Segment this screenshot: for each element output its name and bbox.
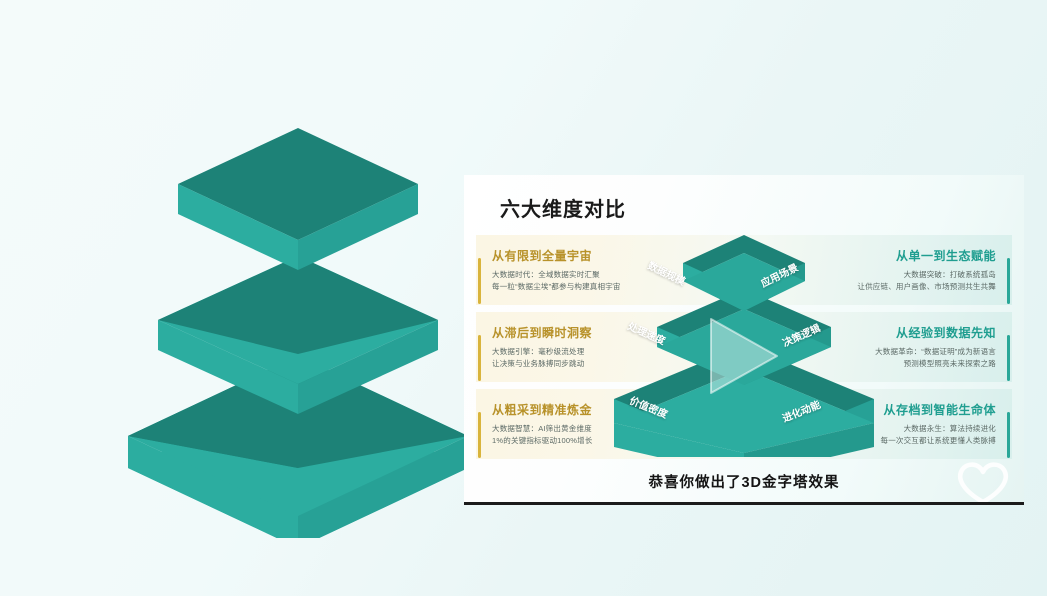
dimension-desc-line: 大数据时代：全域数据实时汇聚 bbox=[492, 269, 681, 281]
card-footer-text: 恭喜你做出了3D金字塔效果 bbox=[464, 471, 1024, 492]
dimension-desc-line: 让供应链、用户画像、市场预测共生共舞 bbox=[807, 281, 996, 293]
table-row: 从有限到全量宇宙 大数据时代：全域数据实时汇聚 每一粒“数据尘埃”都参与构建真相… bbox=[476, 235, 1012, 305]
dimension-left-1: 从有限到全量宇宙 大数据时代：全域数据实时汇聚 每一粒“数据尘埃”都参与构建真相… bbox=[476, 247, 681, 292]
dimension-desc-line: 每一次交互都让系统更懂人类脉搏 bbox=[807, 435, 996, 447]
dimension-title: 从有限到全量宇宙 bbox=[492, 247, 681, 264]
table-row: 从粗采到精准炼金 大数据智慧：AI筛出黄金维度 1%的关键指标驱动100%增长 … bbox=[476, 389, 1012, 459]
dimension-desc-line: 大数据引擎：毫秒级流处理 bbox=[492, 346, 681, 358]
dimension-title: 从滞后到瞬时洞察 bbox=[492, 324, 681, 341]
dimension-title: 从单一到生态赋能 bbox=[807, 247, 996, 264]
accent-bar-teal bbox=[1007, 258, 1010, 304]
dimension-left-2: 从滞后到瞬时洞察 大数据引擎：毫秒级流处理 让决策与业务脉搏同步跳动 bbox=[476, 324, 681, 369]
accent-bar-gold bbox=[478, 258, 481, 304]
accent-bar-gold bbox=[478, 335, 481, 381]
dimension-title: 从经验到数据先知 bbox=[807, 324, 996, 341]
page-title: 六大维度对比 bbox=[500, 193, 626, 222]
accent-bar-teal bbox=[1007, 412, 1010, 458]
table-row: 从滞后到瞬时洞察 大数据引擎：毫秒级流处理 让决策与业务脉搏同步跳动 从经验到数… bbox=[476, 312, 1012, 382]
dimension-left-3: 从粗采到精准炼金 大数据智慧：AI筛出黄金维度 1%的关键指标驱动100%增长 bbox=[476, 401, 681, 446]
dimension-title: 从粗采到精准炼金 bbox=[492, 401, 681, 418]
layered-pyramid-icon bbox=[108, 118, 488, 538]
dimension-desc-line: 让决策与业务脉搏同步跳动 bbox=[492, 358, 681, 370]
accent-bar-gold bbox=[478, 412, 481, 458]
dimension-desc-line: 每一粒“数据尘埃”都参与构建真相宇宙 bbox=[492, 281, 681, 293]
dimension-right-3: 从存档到智能生命体 大数据永生：算法持续进化 每一次交互都让系统更懂人类脉搏 bbox=[807, 401, 1012, 446]
dimension-title: 从存档到智能生命体 bbox=[807, 401, 996, 418]
comparison-card: 六大维度对比 从有限到全量宇宙 大数据时代：全域数据实时汇聚 每一粒“数据尘埃”… bbox=[464, 175, 1024, 505]
dimension-desc-line: 1%的关键指标驱动100%增长 bbox=[492, 435, 681, 447]
dimension-right-1: 从单一到生态赋能 大数据突破：打破系统孤岛 让供应链、用户画像、市场预测共生共舞 bbox=[807, 247, 1012, 292]
dimension-rows: 从有限到全量宇宙 大数据时代：全域数据实时汇聚 每一粒“数据尘埃”都参与构建真相… bbox=[464, 235, 1024, 459]
left-decorative-pyramid bbox=[108, 118, 488, 538]
dimension-desc-line: 大数据永生：算法持续进化 bbox=[807, 423, 996, 435]
heart-outline-icon bbox=[954, 458, 1012, 505]
accent-bar-teal bbox=[1007, 335, 1010, 381]
dimension-desc-line: 大数据突破：打破系统孤岛 bbox=[807, 269, 996, 281]
dimension-desc-line: 预测模型照亮未来探索之路 bbox=[807, 358, 996, 370]
dimension-right-2: 从经验到数据先知 大数据革命：“数据证明”成为新语言 预测模型照亮未来探索之路 bbox=[807, 324, 1012, 369]
dimension-desc-line: 大数据智慧：AI筛出黄金维度 bbox=[492, 423, 681, 435]
dimension-desc-line: 大数据革命：“数据证明”成为新语言 bbox=[807, 346, 996, 358]
